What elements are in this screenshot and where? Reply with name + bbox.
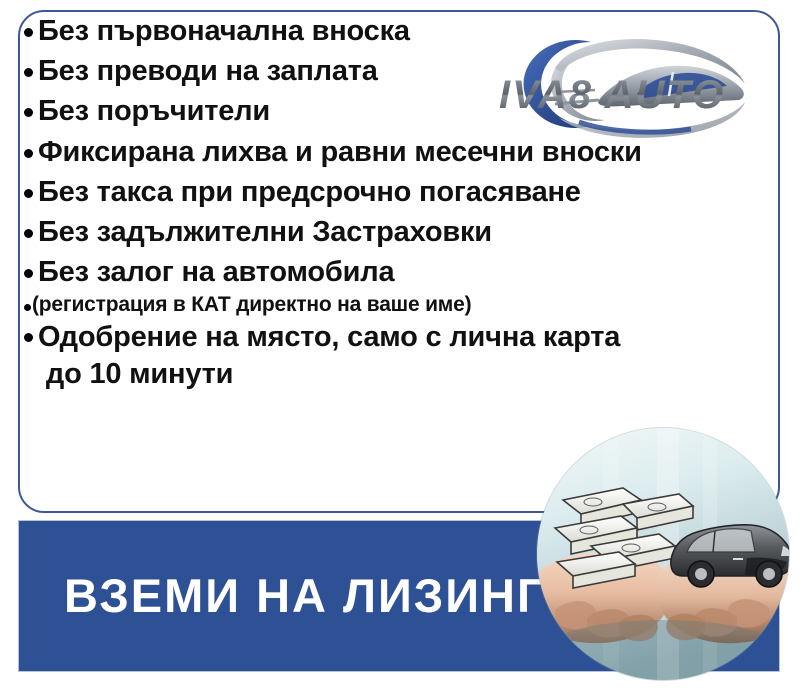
benefit-text: Без поръчители <box>38 94 270 128</box>
benefit-text: Фиксирана лихва и равни месечни вноски <box>38 135 642 169</box>
hands-money-car-photo <box>537 428 789 680</box>
bullet-dot-icon <box>24 304 31 311</box>
brand-logo: IVA8 AUTO <box>495 26 753 138</box>
cta-headline: ВЗЕМИ НА ЛИЗИНГ <box>64 568 546 623</box>
logo-wordmark: IVA8 AUTO <box>499 73 725 117</box>
bullet-dot-icon <box>24 68 33 77</box>
benefit-text: Без задължителни Застраховки <box>38 215 492 249</box>
bullet-dot-icon <box>24 108 33 117</box>
benefit-text: Без преводи на заплата <box>38 54 378 88</box>
list-item: Без такса при предсрочно погасяване <box>10 175 762 209</box>
list-item: Фиксирана лихва и равни месечни вноски <box>10 135 762 169</box>
benefit-note-text: (регистрация в КАТ директно на ваше име) <box>32 293 471 316</box>
bullet-dot-icon <box>24 269 33 278</box>
list-item-note: (регистрация в КАТ директно на ваше име) <box>10 293 762 316</box>
bullet-dot-icon <box>24 28 33 37</box>
list-item: Одобрение на място, само с лична карта д… <box>10 319 762 393</box>
benefit-text: Одобрение на място, само с лична карта д… <box>38 319 620 393</box>
bullet-dot-icon <box>24 333 33 342</box>
benefit-text: Без залог на автомобила <box>38 255 394 289</box>
benefit-text: Без първоначална вноска <box>38 14 410 48</box>
list-item: Без залог на автомобила <box>10 255 762 289</box>
list-item: Без задължителни Застраховки <box>10 215 762 249</box>
bullet-dot-icon <box>24 189 33 198</box>
bullet-dot-icon <box>24 149 33 158</box>
benefit-text: Без такса при предсрочно погасяване <box>38 175 581 209</box>
bullet-dot-icon <box>24 229 33 238</box>
leasing-advert-poster: Без първоначална вноска Без преводи на з… <box>0 0 800 698</box>
